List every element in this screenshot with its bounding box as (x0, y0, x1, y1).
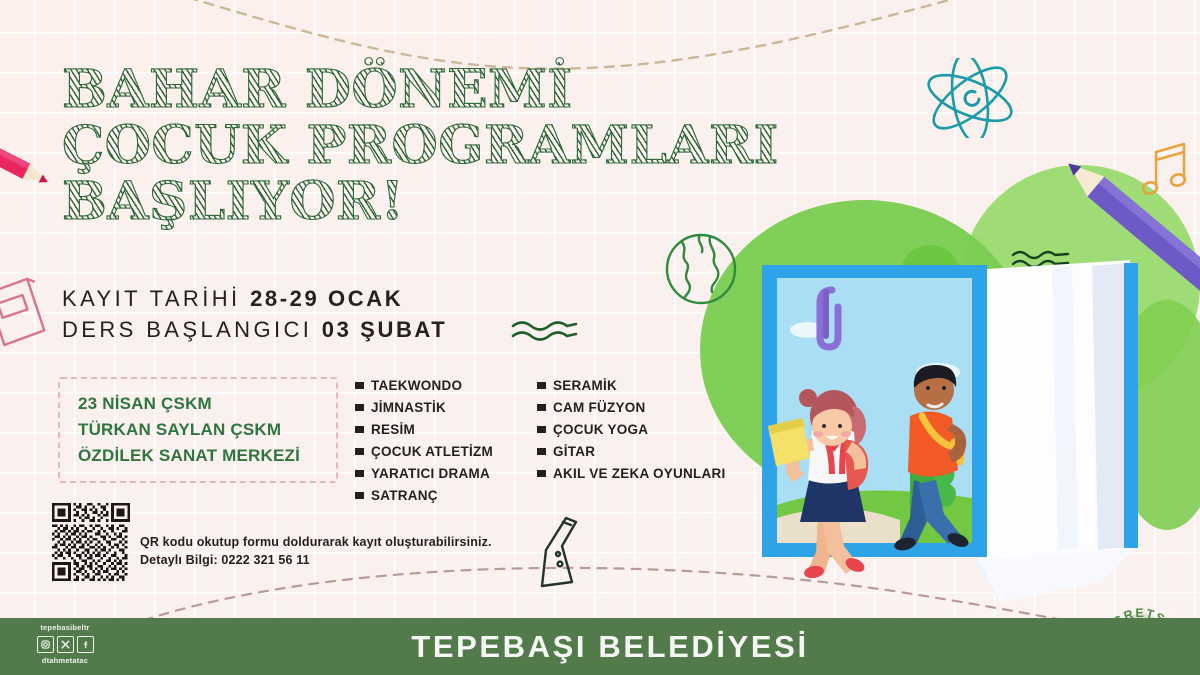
bullet-icon (355, 492, 364, 499)
course-label: SATRANÇ (371, 488, 438, 503)
course-item: GİTAR (537, 440, 726, 462)
course-column-2: SERAMİK CAM FÜZYON ÇOCUK YOGA GİTAR AKIL… (537, 374, 726, 506)
course-label: TAEKWONDO (371, 378, 462, 393)
course-item: ÇOCUK ATLETİZM (355, 440, 493, 462)
notebook-doodle (0, 276, 60, 348)
bullet-icon (537, 404, 546, 411)
social-icons (30, 636, 100, 653)
course-item: AKIL VE ZEKA OYUNLARI (537, 462, 726, 484)
course-label: CAM FÜZYON (553, 400, 646, 415)
course-column-1: TAEKWONDO JİMNASTİK RESİM ÇOCUK ATLETİZM… (355, 374, 493, 506)
qr-info-text: QR kodu okutup formu doldurarak kayıt ol… (140, 533, 492, 569)
venue-box: 23 NİSAN ÇSKM TÜRKAN SAYLAN ÇSKM ÖZDİLEK… (58, 377, 338, 483)
footer-bar: TEPEBAŞI BELEDİYESİ (0, 618, 1200, 675)
social-handle-top: tepebasibeltr (30, 623, 100, 633)
course-label: JİMNASTİK (371, 400, 446, 415)
bullet-icon (355, 382, 364, 389)
course-item: SERAMİK (537, 374, 726, 396)
wave-doodle (510, 318, 580, 346)
atom-doodle (918, 58, 1023, 138)
venue-item-1: 23 NİSAN ÇSKM (78, 391, 322, 417)
course-label: ÇOCUK ATLETİZM (371, 444, 493, 459)
bullet-icon (355, 448, 364, 455)
book-right-pages (972, 260, 1138, 602)
registration-date-label: KAYIT TARİHİ (62, 286, 241, 311)
course-item: SATRANÇ (355, 484, 493, 506)
flask-doodle (530, 512, 592, 590)
poster-headline: BAHAR DÖNEMİ ÇOCUK PROGRAMLARI BAŞLIYOR! (62, 62, 862, 230)
purple-pencil (1042, 130, 1200, 305)
bullet-icon (537, 382, 546, 389)
registration-date-row: KAYIT TARİHİ 28-29 OCAK (62, 283, 447, 314)
book-left-page (762, 265, 987, 580)
course-item: TAEKWONDO (355, 374, 493, 396)
course-label: SERAMİK (553, 378, 617, 393)
venue-item-3: ÖZDİLEK SANAT MERKEZİ (78, 443, 322, 469)
headline-line-1: BAHAR DÖNEMİ (62, 62, 878, 118)
course-label: RESİM (371, 422, 415, 437)
course-start-value: 03 ŞUBAT (322, 317, 448, 342)
footer-title: TEPEBAŞI BELEDİYESİ (0, 618, 1200, 675)
course-item: JİMNASTİK (355, 396, 493, 418)
course-item: YARATICI DRAMA (355, 462, 493, 484)
bullet-icon (355, 426, 364, 433)
qr-code[interactable] (52, 503, 130, 581)
instagram-icon[interactable] (37, 636, 54, 653)
x-icon[interactable] (57, 636, 74, 653)
course-label: ÇOCUK YOGA (553, 422, 648, 437)
bullet-icon (355, 470, 364, 477)
facebook-icon[interactable] (77, 636, 94, 653)
social-block: tepebasibeltr dtahmetatac (30, 623, 100, 666)
course-label: GİTAR (553, 444, 595, 459)
registration-date-value: 28-29 OCAK (250, 286, 403, 311)
social-handle-bottom: dtahmetatac (30, 656, 100, 666)
venue-item-2: TÜRKAN SAYLAN ÇSKM (78, 417, 322, 443)
qr-info-line-2: Detaylı Bilgi: 0222 321 56 11 (140, 551, 492, 569)
qr-info-line-1: QR kodu okutup formu doldurarak kayıt ol… (140, 533, 492, 551)
course-item: ÇOCUK YOGA (537, 418, 726, 440)
course-label: YARATICI DRAMA (371, 466, 490, 481)
headline-line-3: BAŞLIYOR! (62, 174, 878, 230)
course-item: RESİM (355, 418, 493, 440)
course-start-label: DERS BAŞLANGICI (62, 317, 312, 342)
bullet-icon (537, 426, 546, 433)
course-list: TAEKWONDO JİMNASTİK RESİM ÇOCUK ATLETİZM… (355, 374, 726, 506)
headline-line-2: ÇOCUK PROGRAMLARI (62, 118, 878, 174)
poster-root: BAHAR DÖNEMİ ÇOCUK PROGRAMLARI BAŞLIYOR!… (0, 0, 1200, 675)
bullet-icon (537, 470, 546, 477)
bullet-icon (537, 448, 546, 455)
dates-block: KAYIT TARİHİ 28-29 OCAK DERS BAŞLANGICI … (62, 283, 447, 345)
course-item: CAM FÜZYON (537, 396, 726, 418)
bullet-icon (355, 404, 364, 411)
course-start-row: DERS BAŞLANGICI 03 ŞUBAT (62, 314, 447, 345)
